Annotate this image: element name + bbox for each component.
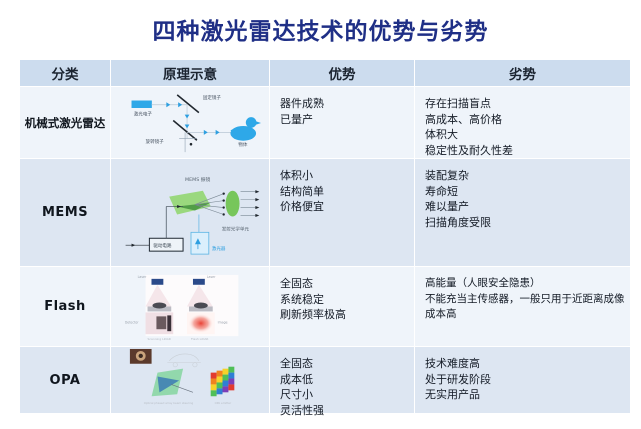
list-item: 无实用产品 [425,387,630,403]
list-item: 器件成熟 [280,96,414,112]
list-item: 系统稳定 [280,292,414,308]
row-category-cell: MEMS [20,159,110,266]
opa-lidar-diagram: Optical phased array beam steering OPA e… [111,347,269,413]
mechanical-lidar-figure: 激光电子 固定镜子 旋转镜子 物体 [111,87,269,158]
table-row: 机械式激光雷达 [20,87,631,159]
svg-text:Flash LiDAR: Flash LiDAR [191,337,208,341]
list-item: 高成本、高价格 [425,112,630,128]
category-label: MEMS [20,159,110,266]
advantages-cell: 体积小 结构简单 价格便宜 [270,159,414,266]
disadvantages-list: 装配复杂 寿命短 难以量产 扫描角度受限 [415,159,630,230]
row-category-cell: Flash [20,267,110,346]
column-header-principle: 原理示意 [111,60,269,86]
advantages-list: 器件成熟 已量产 [270,87,414,127]
mems-lidar-figure: 驱动电路 激光器 MEMS 振镜 发射光学单元 [111,159,269,266]
table-row: OPA [20,347,631,414]
advantages-list: 全固态 系统稳定 刷新频率极高 [270,267,414,323]
list-item: 灵活性强 [280,403,414,419]
svg-text:Scanning LiDAR: Scanning LiDAR [148,337,171,341]
list-item: 寿命短 [425,184,630,200]
slide-canvas: 四种激光雷达技术的优势与劣势 分类 原理示意 优势 劣势 机械式激光雷达 [0,0,641,429]
column-header-advantages: 优势 [270,60,414,86]
list-item: 结构简单 [280,184,414,200]
list-item: 价格便宜 [280,199,414,215]
list-item: 存在扫描盲点 [425,96,630,112]
list-item: 成本高 [425,307,630,323]
disadvantages-list: 技术难度高 处于研发阶段 无实用产品 [415,347,630,403]
disadvantages-list: 存在扫描盲点 高成本、高价格 体积大 稳定性及耐久性差 [415,87,630,158]
opa-lidar-figure: Optical phased array beam steering OPA e… [111,347,269,413]
svg-text:激光电子: 激光电子 [134,111,153,118]
disadvantages-cell: 装配复杂 寿命短 难以量产 扫描角度受限 [415,159,630,266]
disadvantages-list: 高能量（人眼安全隐患） 不能充当主传感器，一般只用于近距离成像 成本高 [415,267,630,323]
svg-text:OPA emitter: OPA emitter [215,401,232,405]
table-header-row: 分类 原理示意 优势 劣势 [20,60,631,87]
list-item: 全固态 [280,276,414,292]
mems-lidar-diagram: 驱动电路 激光器 MEMS 振镜 发射光学单元 [111,159,269,266]
column-header-disadvantages: 劣势 [415,60,630,86]
category-label: 机械式激光雷达 [20,87,110,158]
svg-text:Image: Image [218,320,228,324]
svg-text:MEMS 振镜: MEMS 振镜 [185,176,210,183]
list-item: 尺寸小 [280,387,414,403]
advantages-cell: 全固态 系统稳定 刷新频率极高 [270,267,414,346]
list-item: 全固态 [280,356,414,372]
column-header-category-label: 分类 [52,63,79,83]
list-item: 已量产 [280,112,414,128]
list-item: 难以量产 [425,199,630,215]
disadvantages-cell: 技术难度高 处于研发阶段 无实用产品 [415,347,630,413]
flash-lidar-diagram: Detector Laser [111,267,269,346]
column-header-category: 分类 [20,60,110,86]
advantages-cell: 器件成熟 已量产 [270,87,414,158]
advantages-list: 体积小 结构简单 价格便宜 [270,159,414,215]
category-label: OPA [20,347,110,413]
svg-text:Laser: Laser [138,275,147,279]
list-item: 刷新频率极高 [280,307,414,323]
list-item: 技术难度高 [425,356,630,372]
svg-text:发射光学单元: 发射光学单元 [222,225,250,232]
row-category-cell: 机械式激光雷达 [20,87,110,158]
svg-text:驱动电路: 驱动电路 [153,242,172,249]
svg-text:Optical phased array beam stee: Optical phased array beam steering [144,401,194,405]
svg-text:激光器: 激光器 [212,245,226,252]
column-header-disadvantages-label: 劣势 [509,63,536,83]
list-item: 稳定性及耐久性差 [425,143,630,159]
list-item: 扫描角度受限 [425,215,630,231]
svg-text:固定镜子: 固定镜子 [203,94,222,101]
svg-text:Laser: Laser [207,275,216,279]
list-item: 成本低 [280,372,414,388]
svg-text:旋转镜子: 旋转镜子 [146,138,165,145]
mechanical-lidar-diagram: 激光电子 固定镜子 旋转镜子 物体 [111,87,269,158]
list-item: 体积大 [425,127,630,143]
svg-text:Detector: Detector [125,320,139,324]
list-item: 处于研发阶段 [425,372,630,388]
list-item: 体积小 [280,168,414,184]
disadvantages-cell: 存在扫描盲点 高成本、高价格 体积大 稳定性及耐久性差 [415,87,630,158]
row-category-cell: OPA [20,347,110,413]
advantages-cell: 全固态 成本低 尺寸小 灵活性强 [270,347,414,413]
table-row: Flash Detector Laser [20,267,631,347]
svg-text:物体: 物体 [238,141,248,148]
list-item: 不能充当主传感器，一般只用于近距离成像 [425,292,630,308]
column-header-principle-label: 原理示意 [163,63,217,83]
category-label: Flash [20,267,110,346]
list-item: 装配复杂 [425,168,630,184]
table-row: MEMS [20,159,631,267]
column-header-advantages-label: 优势 [329,63,356,83]
advantages-list: 全固态 成本低 尺寸小 灵活性强 [270,347,414,418]
list-item: 高能量（人眼安全隐患） [425,276,630,292]
flash-lidar-figure: Detector Laser [111,267,269,346]
comparison-table: 分类 原理示意 优势 劣势 机械式激光雷达 [20,60,631,415]
disadvantages-cell: 高能量（人眼安全隐患） 不能充当主传感器，一般只用于近距离成像 成本高 [415,267,630,346]
page-title: 四种激光雷达技术的优势与劣势 [0,12,641,46]
